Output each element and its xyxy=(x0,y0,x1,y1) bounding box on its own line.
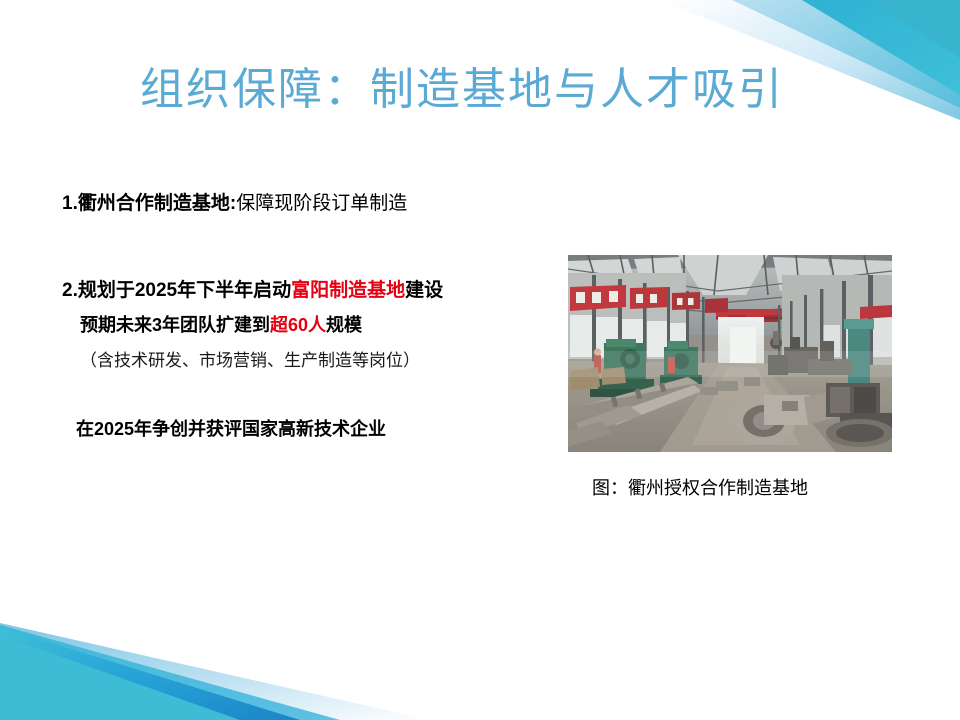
decoration-bottom-left xyxy=(0,605,440,720)
bullet-2-suffix: 建设 xyxy=(405,280,443,301)
bullet-line-5: 在2025年争创并获评国家高新技术企业 xyxy=(76,418,562,441)
factory-photo xyxy=(568,255,892,452)
bullet-2-prefix: 2.规划于2025年下半年启动 xyxy=(62,280,291,301)
bullet-1-detail: 保障现阶段订单制造 xyxy=(236,193,407,214)
bullet-line-1: 1.衢州合作制造基地:保障现阶段订单制造 xyxy=(62,192,562,217)
figure-caption: 图：衢州授权合作制造基地 xyxy=(592,474,808,500)
bullet-3-prefix: 预期未来3年团队扩建到 xyxy=(80,315,270,335)
slide-canvas: 组织保障：制造基地与人才吸引 1.衢州合作制造基地:保障现阶段订单制造 2.规划… xyxy=(0,0,960,720)
factory-photo-image xyxy=(568,255,892,452)
bullet-3-suffix: 规模 xyxy=(326,315,362,335)
bullet-1-label: 1.衢州合作制造基地: xyxy=(62,193,236,214)
bullet-3-highlight: 超60人 xyxy=(270,315,326,335)
slide-title: 组织保障：制造基地与人才吸引 xyxy=(140,62,784,117)
bullet-line-4-note: （含技术研发、市场营销、生产制造等岗位） xyxy=(80,350,562,372)
bullet-2-highlight: 富阳制造基地 xyxy=(291,280,405,301)
bullet-line-3: 预期未来3年团队扩建到超60人规模 xyxy=(80,314,562,337)
body-text-block: 1.衢州合作制造基地:保障现阶段订单制造 2.规划于2025年下半年启动富阳制造… xyxy=(62,192,562,441)
bullet-line-2: 2.规划于2025年下半年启动富阳制造基地建设 xyxy=(62,279,562,304)
